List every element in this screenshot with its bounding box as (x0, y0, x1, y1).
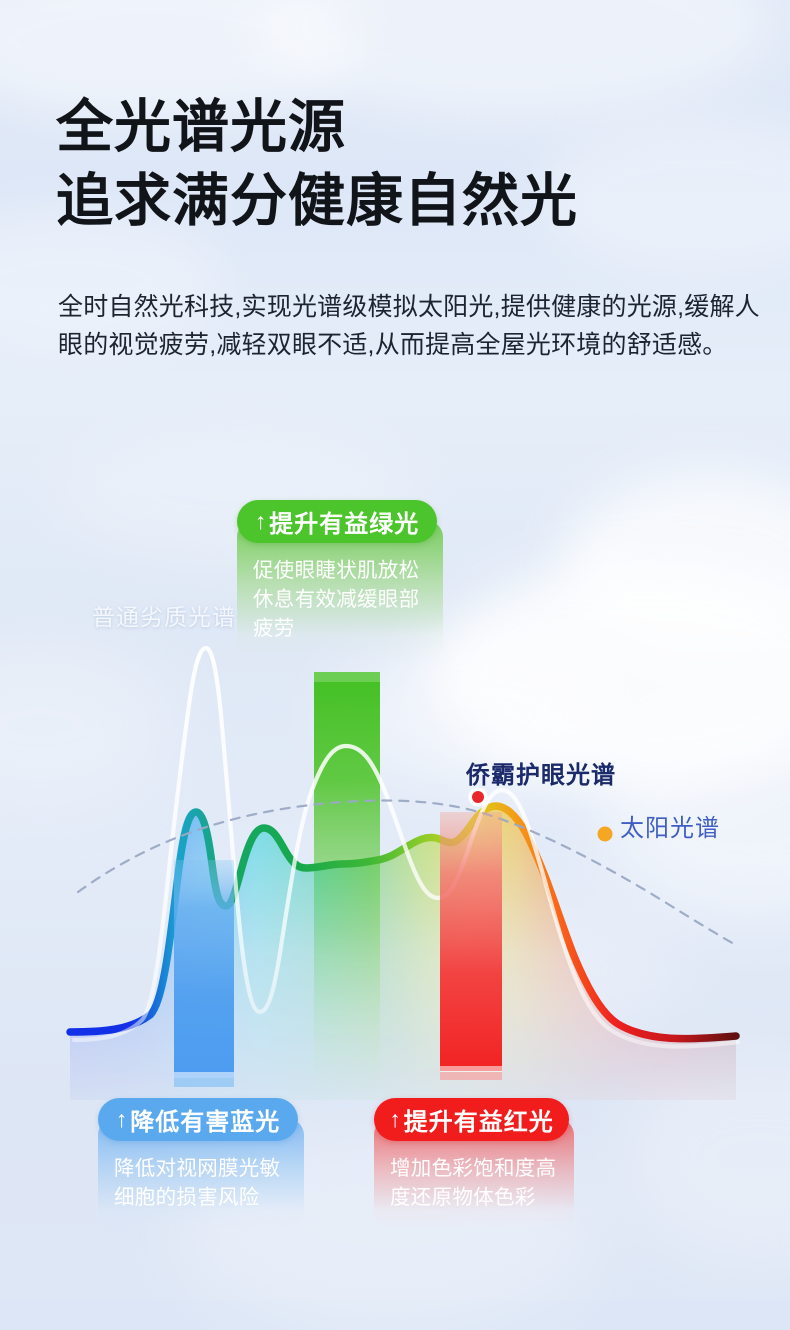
callout-red-light: ↑ 提升有益红光 增加色彩饱和度高度还原物体色彩 (374, 1098, 574, 1230)
callout-green-light: ↑ 提升有益绿光 促使眼睫状肌放松休息有效减缓眼部疲劳 (237, 500, 443, 661)
headline-line-2: 追求满分健康自然光 (56, 170, 578, 232)
body-paragraph: 全时自然光科技,实现光谱级模拟太阳光,提供健康的光源,缓解人眼的视觉疲劳,减轻双… (58, 288, 764, 364)
callout-red-desc: 增加色彩饱和度高度还原物体色彩 (374, 1145, 574, 1212)
sun-spectrum-label: 太阳光谱 (620, 808, 720, 843)
arrow-up-icon: ↑ (255, 508, 268, 535)
callout-blue-title: 降低有害蓝光 (130, 1102, 280, 1137)
callout-green-pill: ↑ 提升有益绿光 (237, 500, 437, 543)
callout-red-pill: ↑ 提升有益红光 (374, 1098, 569, 1141)
arrow-up-icon: ↑ (389, 1106, 402, 1133)
callout-red-title: 提升有益红光 (404, 1102, 554, 1137)
blue-emphasis-bar (174, 860, 234, 1087)
poor-spectrum-label: 普通劣质光谱 (92, 598, 236, 632)
sun-spectrum-marker (598, 827, 613, 842)
our-spectrum-marker (469, 788, 488, 807)
red-emphasis-bar (440, 812, 502, 1080)
callout-blue-desc: 降低对视网膜光敏细胞的损害风险 (98, 1145, 304, 1212)
our-spectrum-label: 侨霸护眼光谱 (466, 755, 616, 790)
page-title: 全光谱光源 追求满分健康自然光 (56, 96, 578, 232)
arrow-up-icon: ↑ (116, 1106, 129, 1133)
callout-blue-light: ↑ 降低有害蓝光 降低对视网膜光敏细胞的损害风险 (98, 1098, 304, 1230)
headline-line-1: 全光谱光源 (56, 96, 578, 158)
callout-green-title: 提升有益绿光 (269, 504, 419, 539)
callout-blue-pill: ↑ 降低有害蓝光 (98, 1098, 298, 1141)
callout-green-desc: 促使眼睫状肌放松休息有效减缓眼部疲劳 (237, 547, 443, 643)
